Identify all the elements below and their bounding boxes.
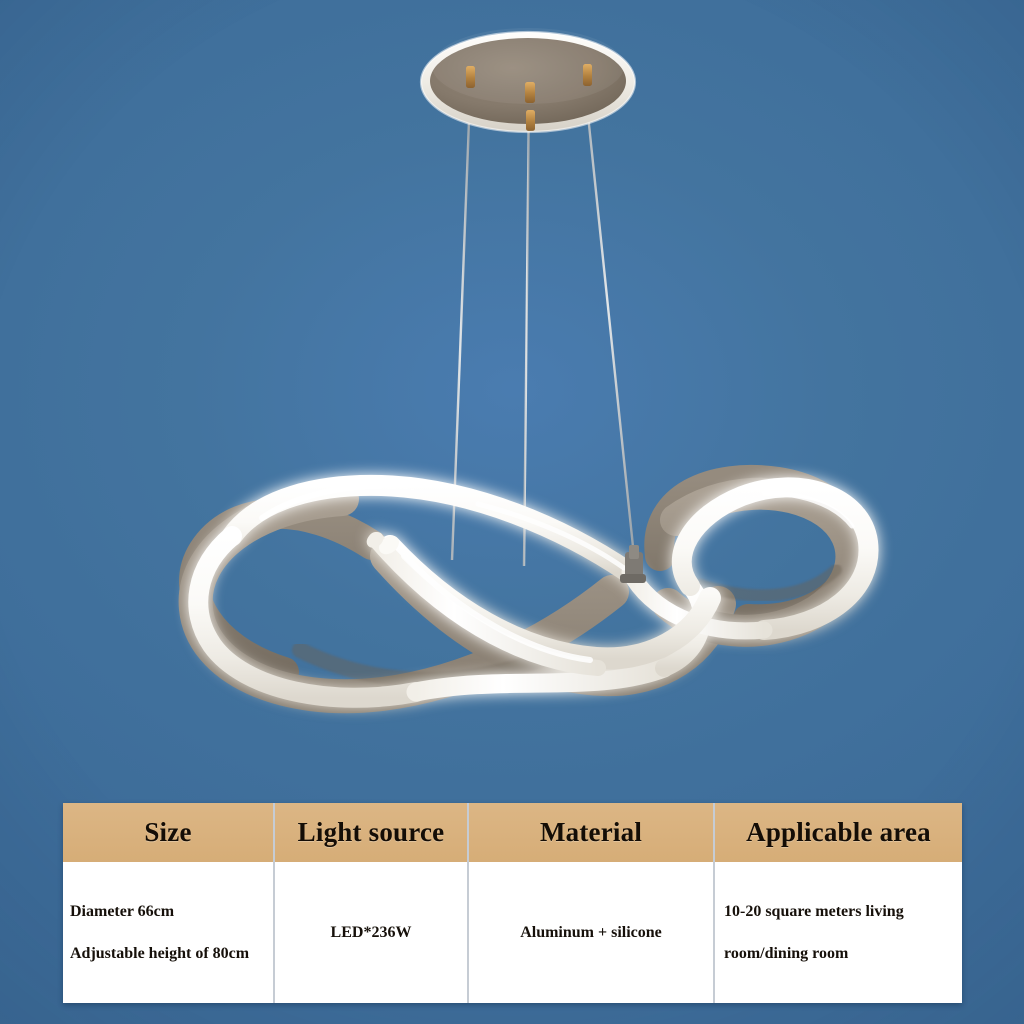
spec-column-material: Material Aluminum + silicone bbox=[469, 803, 715, 1003]
specification-table: Size Diameter 66cm Adjustable height of … bbox=[63, 803, 962, 1003]
spec-header-label: Applicable area bbox=[746, 817, 931, 848]
spec-header-label: Size bbox=[144, 817, 191, 848]
spec-column-light-source: Light source LED*236W bbox=[275, 803, 469, 1003]
spec-value-line: Aluminum + silicone bbox=[483, 923, 699, 942]
spec-body-cell: LED*236W bbox=[275, 862, 467, 1003]
spec-header-cell: Material bbox=[469, 803, 713, 862]
spec-header-label: Material bbox=[540, 817, 642, 848]
spec-value-line: room/dining room bbox=[724, 944, 948, 963]
spec-body-cell: Diameter 66cm Adjustable height of 80cm bbox=[63, 862, 273, 1003]
product-image-page: Size Diameter 66cm Adjustable height of … bbox=[0, 0, 1024, 1024]
round-ceiling-canopy bbox=[421, 28, 635, 132]
spec-header-cell: Size bbox=[63, 803, 273, 862]
lamp-product-photo bbox=[0, 0, 1024, 790]
spec-column-applicable-area: Applicable area 10-20 square meters livi… bbox=[715, 803, 962, 1003]
spec-column-size: Size Diameter 66cm Adjustable height of … bbox=[63, 803, 275, 1003]
spec-value-line: Diameter 66cm bbox=[70, 902, 259, 921]
spec-value-line: Adjustable height of 80cm bbox=[70, 944, 259, 963]
spec-value-line: LED*236W bbox=[289, 923, 453, 942]
spec-value-line: 10-20 square meters living bbox=[724, 902, 948, 921]
spec-header-label: Light source bbox=[298, 817, 445, 848]
spec-body-cell: Aluminum + silicone bbox=[469, 862, 713, 1003]
spec-header-cell: Light source bbox=[275, 803, 467, 862]
spec-body-cell: 10-20 square meters living room/dining r… bbox=[715, 862, 962, 1003]
spec-header-cell: Applicable area bbox=[715, 803, 962, 862]
pendant-lamp-graphic bbox=[0, 0, 1024, 790]
